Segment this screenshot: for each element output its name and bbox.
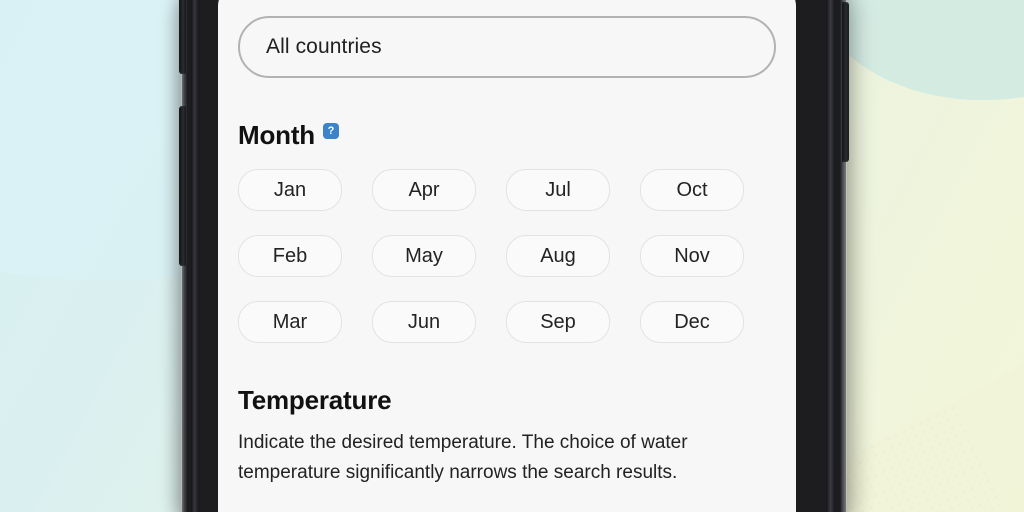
screen-content: All countries Month ? Jan Feb Mar Apr Ma… (218, 0, 796, 488)
month-section-heading: Month ? (238, 120, 776, 151)
month-pill-aug[interactable]: Aug (506, 235, 610, 277)
month-pill-sep[interactable]: Sep (506, 301, 610, 343)
month-pill-jul[interactable]: Jul (506, 169, 610, 211)
month-pill-oct[interactable]: Oct (640, 169, 744, 211)
month-pill-may[interactable]: May (372, 235, 476, 277)
country-filter-select[interactable]: All countries (238, 16, 776, 78)
month-help-icon[interactable]: ? (323, 123, 339, 139)
phone-screen: All countries Month ? Jan Feb Mar Apr Ma… (218, 0, 796, 512)
month-pill-jun[interactable]: Jun (372, 301, 476, 343)
phone-rail-right-inner (826, 0, 835, 512)
page-backdrop: All countries Month ? Jan Feb Mar Apr Ma… (0, 0, 1024, 512)
temperature-description: Indicate the desired temperature. The ch… (238, 428, 768, 488)
phone-device-frame: All countries Month ? Jan Feb Mar Apr Ma… (182, 0, 846, 512)
phone-rail-left-inner (191, 0, 199, 512)
month-pill-grid: Jan Feb Mar Apr May Jun Jul Aug Sep Oct … (238, 169, 776, 341)
month-pill-jan[interactable]: Jan (238, 169, 342, 211)
temperature-heading-label: Temperature (238, 385, 391, 416)
temperature-section: Temperature Indicate the desired tempera… (238, 385, 776, 488)
temperature-section-heading: Temperature (238, 385, 776, 416)
month-pill-feb[interactable]: Feb (238, 235, 342, 277)
power-button[interactable] (842, 2, 849, 162)
month-heading-label: Month (238, 120, 315, 151)
month-pill-dec[interactable]: Dec (640, 301, 744, 343)
month-pill-nov[interactable]: Nov (640, 235, 744, 277)
volume-down-button[interactable] (179, 106, 186, 266)
volume-up-button[interactable] (179, 0, 186, 74)
month-pill-apr[interactable]: Apr (372, 169, 476, 211)
country-filter-value: All countries (266, 35, 382, 59)
month-pill-mar[interactable]: Mar (238, 301, 342, 343)
